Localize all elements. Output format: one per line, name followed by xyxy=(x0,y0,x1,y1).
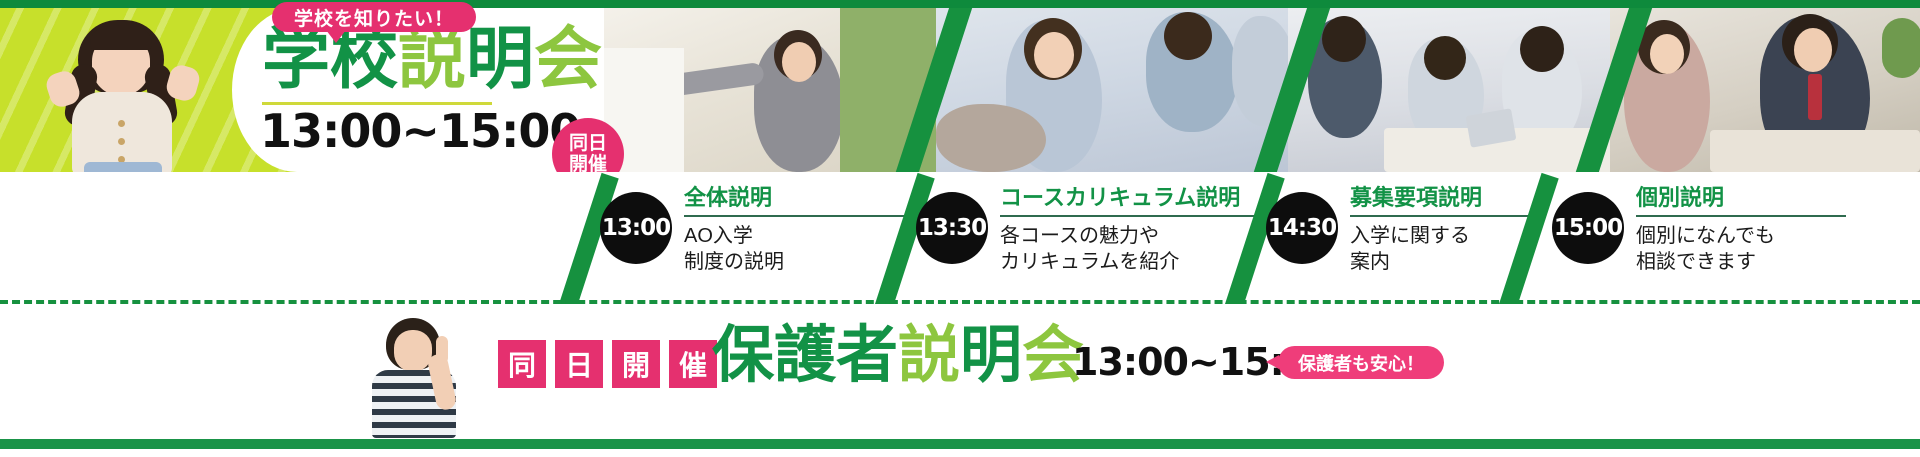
timeline-desc-0-line1: AO入学 xyxy=(684,224,914,250)
kanji-box-1: 日 xyxy=(555,340,603,388)
title-part-2: 明 xyxy=(466,20,534,99)
timeline-desc-3-line1: 個別になんでも xyxy=(1636,224,1846,250)
kanji-box-2: 開 xyxy=(612,340,660,388)
bottom-green-rule xyxy=(0,439,1920,449)
hero-speech-bubble: 学校を知りたい！ xyxy=(272,2,476,32)
student-photo-left xyxy=(48,12,198,172)
same-day-badge-line1: 同日 xyxy=(569,133,607,154)
parent-photo xyxy=(370,318,466,438)
school-briefing-banner: 学校を知りたい！ 学校説明会 13:00~15:00 同日 開催 ✦ ✦ ✦ 私… xyxy=(0,0,1920,457)
same-day-kanji-boxes: 同 日 開 催 xyxy=(498,340,717,388)
timeline-heading-1: コースカリキュラム説明 xyxy=(1000,186,1268,210)
title-part-3: 会 xyxy=(534,20,602,99)
timeline-rule-0 xyxy=(684,215,914,217)
hero-time: 13:00~15:00 xyxy=(260,108,580,154)
timeline-desc-1-line1: 各コースの魅力や xyxy=(1000,224,1268,250)
timeline-rule-1 xyxy=(1000,215,1268,217)
timeline-rule-3 xyxy=(1636,215,1846,217)
timeline-time-2: 14:30 xyxy=(1266,192,1338,264)
parent-title-part-0: 保護者 xyxy=(712,318,898,391)
parent-reassurance-tag: 保護者も安心！ xyxy=(1278,346,1444,379)
timeline-heading-0: 全体説明 xyxy=(684,186,914,210)
parent-title-part-1: 説 xyxy=(898,318,960,391)
photo-teacher-presenting xyxy=(604,8,944,172)
timeline-time-0: 13:00 xyxy=(600,192,672,264)
hero-band: 学校を知りたい！ 学校説明会 13:00~15:00 同日 開催 xyxy=(0,0,1920,172)
photo-students-tablets xyxy=(1288,8,1618,172)
timeline-desc-0-line2: 制度の説明 xyxy=(684,250,914,276)
photo-individual-consultation xyxy=(1610,8,1920,172)
page-title: 学校説明会 xyxy=(262,26,602,94)
timeline-rule-2 xyxy=(1350,215,1546,217)
kanji-box-3: 催 xyxy=(669,340,717,388)
parent-briefing-title: 保護者説明会 xyxy=(712,324,1084,386)
timeline-desc-1-line2: カリキュラムを紹介 xyxy=(1000,250,1268,276)
photo-students-classroom xyxy=(936,8,1296,172)
parent-briefing-band: 同 日 開 催 保護者説明会 13:00~15:00 保護者も安心！ xyxy=(0,304,1920,457)
photo-strip xyxy=(604,8,1920,172)
kanji-box-0: 同 xyxy=(498,340,546,388)
timeline-time-1: 13:30 xyxy=(916,192,988,264)
schedule-timeline: ✦ ✦ ✦ 私たちが サポート! 13:00 xyxy=(0,172,1920,300)
timeline-time-3: 15:00 xyxy=(1552,192,1624,264)
timeline-heading-3: 個別説明 xyxy=(1636,186,1846,210)
timeline-heading-2: 募集要項説明 xyxy=(1350,186,1546,210)
same-day-badge-line2: 開催 xyxy=(569,154,607,172)
parent-title-part-2: 明 xyxy=(960,318,1022,391)
timeline-desc-3-line2: 相談できます xyxy=(1636,250,1846,276)
